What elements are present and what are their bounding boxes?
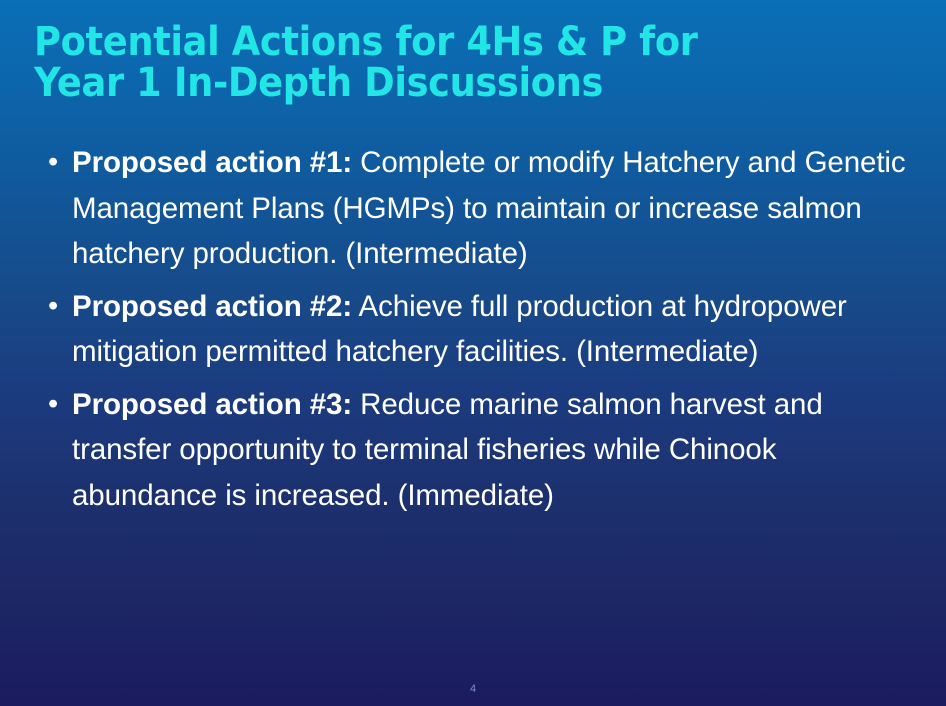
bullet-item-3: • Proposed action #3: Reduce marine salm… (40, 382, 925, 519)
bullet-text-1: Proposed action #1: Complete or modify H… (72, 140, 925, 277)
slide-body: • Proposed action #1: Complete or modify… (40, 140, 925, 525)
bullet-point-icon: • (40, 140, 72, 185)
slide-title: Potential Actions for 4Hs & P for Year 1… (34, 22, 894, 104)
title-line-2: Year 1 In-Depth Discussions (34, 63, 825, 104)
bullet-lead-1: Proposed action #1: (72, 146, 352, 179)
bullet-item-2: • Proposed action #2: Achieve full produ… (40, 284, 925, 375)
bullet-item-1: • Proposed action #1: Complete or modify… (40, 140, 925, 277)
bullet-text-2: Proposed action #2: Achieve full product… (72, 284, 925, 375)
bullet-point-icon: • (40, 382, 72, 427)
bullet-lead-3: Proposed action #3: (72, 388, 352, 421)
slide-number: 4 (0, 683, 946, 696)
slide-canvas: Potential Actions for 4Hs & P for Year 1… (0, 0, 946, 706)
bullet-lead-2: Proposed action #2: (72, 290, 352, 323)
title-line-1: Potential Actions for 4Hs & P for (34, 22, 825, 63)
bullet-point-icon: • (40, 284, 72, 329)
bullet-text-3: Proposed action #3: Reduce marine salmon… (72, 382, 925, 519)
